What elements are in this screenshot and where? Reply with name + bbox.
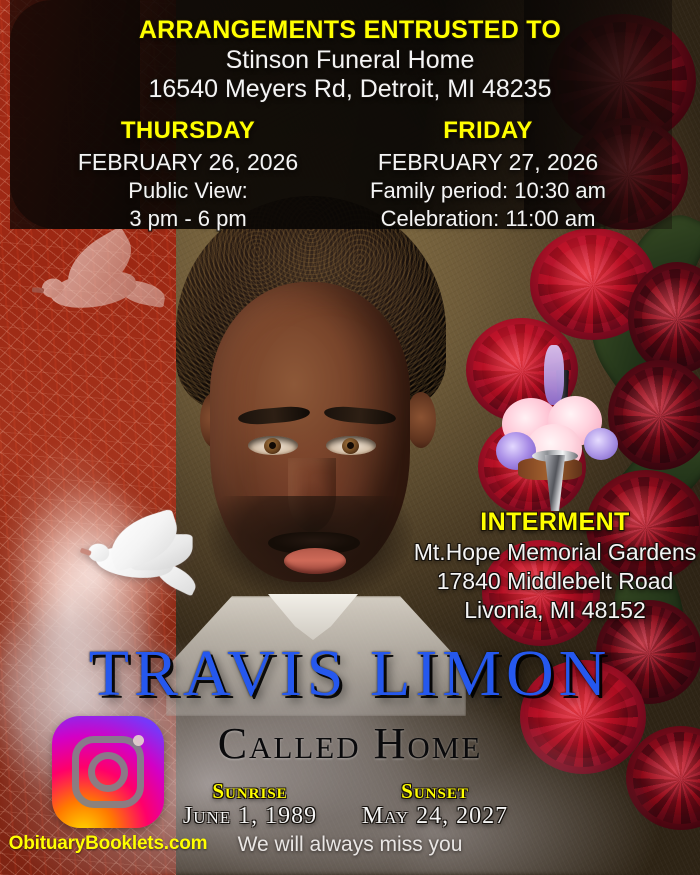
arrangements-heading: ARRANGEMENTS ENTRUSTED TO — [0, 17, 700, 44]
sunset-label: Sunset — [325, 779, 545, 804]
interment-place: Mt.Hope Memorial Gardens — [410, 539, 700, 566]
service-detail-line-2: 3 pm - 6 pm — [38, 206, 338, 232]
service-day-label: FRIDAY — [338, 117, 638, 145]
service-date: FEBRUARY 27, 2026 — [338, 149, 638, 176]
sunset-date: May 24, 2027 — [325, 803, 545, 830]
interment-city-state-zip: Livonia, MI 48152 — [410, 597, 700, 624]
service-block-thursday: THURSDAY FEBRUARY 26, 2026 Public View: … — [38, 117, 338, 232]
funeral-home-name: Stinson Funeral Home — [0, 47, 700, 74]
watermark-url[interactable]: ObituaryBooklets.com — [8, 833, 208, 855]
funeral-home-address: 16540 Meyers Rd, Detroit, MI 48235 — [0, 76, 700, 103]
memorial-program-cover: ARRANGEMENTS ENTRUSTED TO Stinson Funera… — [0, 0, 700, 875]
instagram-icon[interactable] — [52, 716, 164, 828]
service-day-label: THURSDAY — [38, 117, 338, 145]
service-date: FEBRUARY 26, 2026 — [38, 149, 338, 176]
deceased-name: TRAVIS LIMON — [0, 636, 700, 712]
service-detail-line-1: Family period: 10:30 am — [338, 178, 638, 204]
interment-heading: INTERMENT — [410, 508, 700, 537]
service-block-friday: FRIDAY FEBRUARY 27, 2026 Family period: … — [338, 117, 638, 232]
service-detail-line-2: Celebration: 11:00 am — [338, 206, 638, 232]
interment-block: INTERMENT Mt.Hope Memorial Gardens 17840… — [410, 508, 700, 624]
watermark[interactable]: ObituaryBooklets.com — [8, 716, 208, 855]
service-detail-line-1: Public View: — [38, 178, 338, 204]
sunset-block: Sunset May 24, 2027 — [325, 779, 545, 830]
interment-street: 17840 Middlebelt Road — [410, 568, 700, 595]
